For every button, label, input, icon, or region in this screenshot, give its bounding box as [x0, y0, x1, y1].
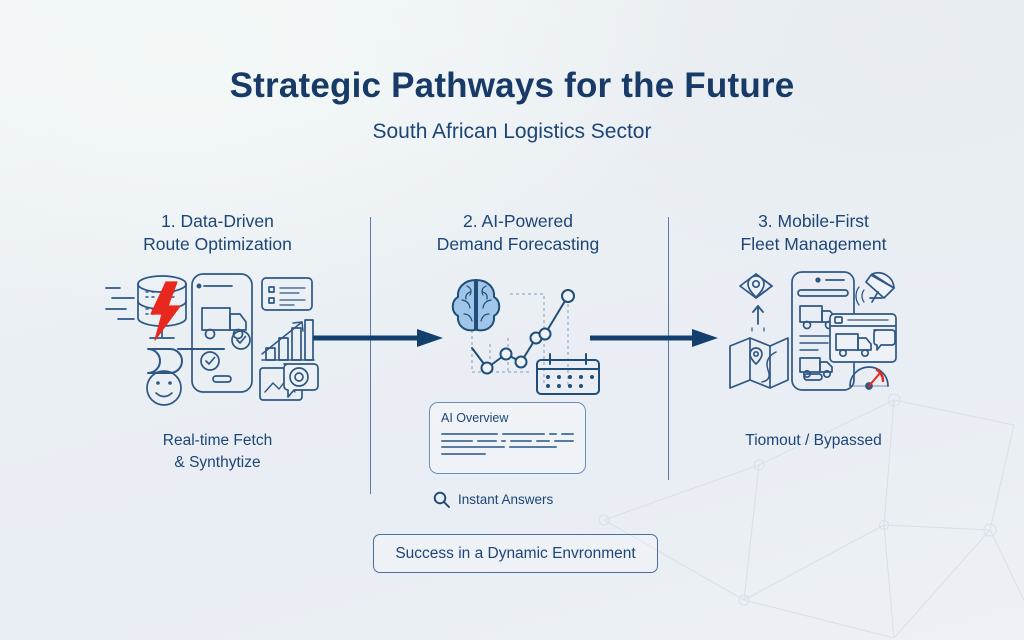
skeleton-row	[441, 433, 574, 435]
ai-overview-card[interactable]: AI Overview	[429, 402, 586, 474]
skeleton-row	[441, 440, 574, 442]
skeleton-row	[441, 453, 574, 455]
summary-banner[interactable]: Success in a Dynamic Envronment	[373, 534, 658, 573]
column-1-heading: 1. Data-Driven Route Optimization	[110, 210, 325, 257]
slide-canvas: Strategic Pathways for the Future South …	[0, 0, 1024, 640]
skeleton-row	[441, 446, 574, 448]
column-1: 1. Data-Driven Route Optimization	[110, 210, 325, 257]
mobile-fleet-map-illustration	[726, 268, 904, 396]
data-pipeline-illustration	[104, 268, 324, 408]
page-subtitle: South African Logistics Sector	[0, 120, 1024, 144]
instant-answers-label: Instant Answers	[458, 492, 553, 507]
summary-banner-label: Success in a Dynamic Envronment	[395, 545, 635, 563]
page-title: Strategic Pathways for the Future	[0, 66, 1024, 106]
column-3: 3. Mobile-First Fleet Management	[706, 210, 921, 257]
column-3-caption: Tiomout / Bypassed	[706, 430, 921, 452]
instant-answers[interactable]: Instant Answers	[433, 487, 593, 511]
search-icon	[433, 491, 450, 508]
column-2: 2. AI-Powered Demand Forecasting	[408, 210, 628, 257]
brain-forecast-chart-illustration	[432, 268, 607, 396]
divider-1	[370, 217, 371, 494]
ai-overview-skeleton	[441, 433, 574, 455]
network-watermark	[594, 370, 1024, 640]
arrow-step1-to-step2	[313, 327, 443, 349]
ai-overview-heading: AI Overview	[441, 411, 574, 425]
column-2-heading: 2. AI-Powered Demand Forecasting	[408, 210, 628, 257]
arrow-step2-to-step3	[590, 327, 718, 349]
column-1-caption: Real-time Fetch & Synthytize	[110, 430, 325, 474]
column-3-heading: 3. Mobile-First Fleet Management	[706, 210, 921, 257]
